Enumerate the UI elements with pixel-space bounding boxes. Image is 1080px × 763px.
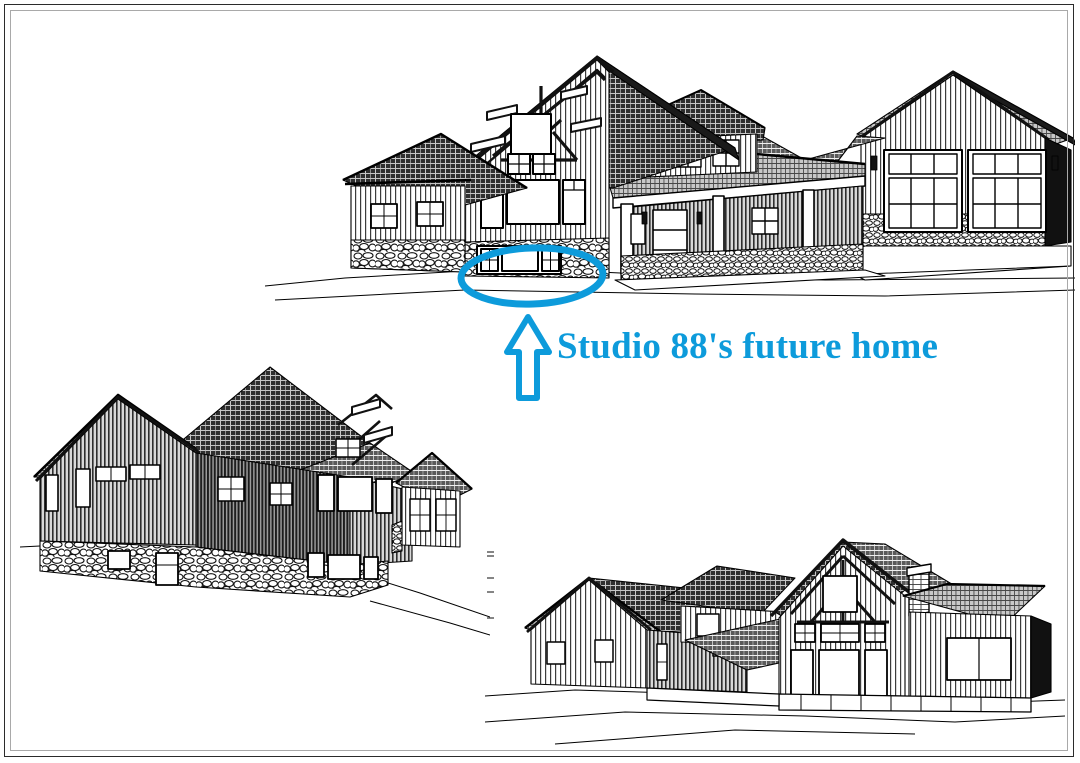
rendering-rear-left-perspective <box>20 365 490 665</box>
rear-elevation-perspective-drawing <box>485 520 1065 750</box>
front-right-perspective-drawing <box>265 28 1075 318</box>
rear-left-perspective-drawing <box>20 365 490 665</box>
rendering-rear-elevation-perspective <box>485 520 1065 750</box>
up-arrow-icon <box>500 312 556 409</box>
rendering-front-right-perspective <box>265 28 1075 318</box>
annotation-caption: Studio 88's future home <box>557 325 938 369</box>
rendering-sheet-page: Studio 88's future home <box>0 0 1080 763</box>
